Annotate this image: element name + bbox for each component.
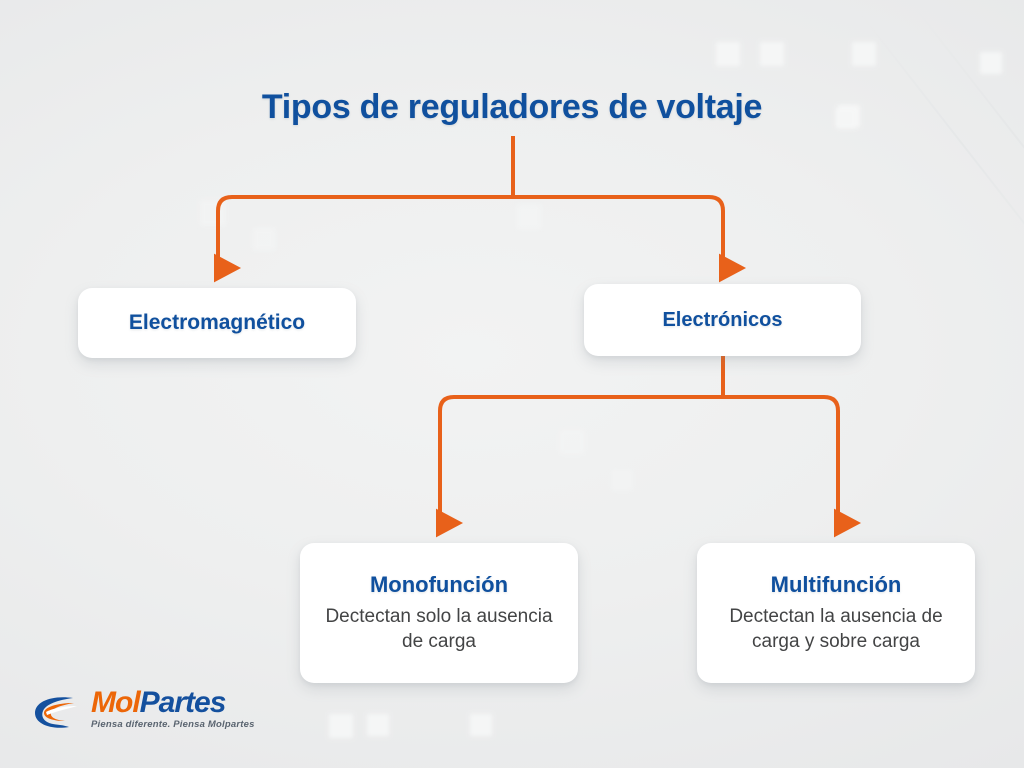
bg-decor-square	[760, 42, 784, 66]
bg-decor-square	[329, 714, 353, 738]
bg-decor-line	[913, 6, 1024, 291]
logo-text-block: MolPartes Piensa diferente. Piensa Molpa…	[91, 688, 255, 730]
connector-title-to-electronicos	[513, 197, 723, 268]
connector-electronicos-to-multifuncion	[723, 397, 838, 523]
logo-word-mol: Mol	[91, 686, 140, 719]
node-monofuncion-description: Dectectan solo la ausencia de carga	[322, 604, 556, 654]
node-monofuncion-title: Monofunción	[370, 572, 508, 597]
bg-decor-square	[517, 205, 541, 229]
molpartes-swoosh-icon	[33, 692, 89, 732]
bg-decor-square	[470, 714, 492, 736]
bg-decor-square	[367, 714, 389, 736]
slide-canvas: Tipos de reguladores de voltaje Electrom…	[0, 0, 1024, 768]
bg-decor-square	[980, 52, 1002, 74]
logo-tagline: Piensa diferente. Piensa Molpartes	[91, 720, 255, 730]
bg-decor-square	[716, 42, 740, 66]
node-multifuncion-description: Dectectan la ausencia de carga y sobre c…	[713, 604, 959, 654]
logo-wordmark: MolPartes	[91, 688, 255, 718]
node-electronicos-title: Electrónicos	[662, 309, 782, 332]
page-title: Tipos de reguladores de voltaje	[0, 88, 1024, 127]
bg-decor-square	[560, 430, 584, 454]
bg-decor-square	[253, 228, 275, 250]
bg-decor-square	[852, 42, 876, 66]
bg-decor-square	[200, 200, 226, 226]
node-multifuncion-title: Multifunción	[771, 572, 902, 597]
node-electromagnetico[interactable]: Electromagnético	[78, 288, 356, 358]
node-multifuncion[interactable]: Multifunción Dectectan la ausencia de ca…	[697, 543, 975, 683]
logo-word-partes: Partes	[140, 686, 226, 719]
node-electronicos[interactable]: Electrónicos	[584, 284, 861, 356]
bg-decor-line	[860, 14, 1024, 299]
bg-decor-square	[612, 470, 632, 490]
node-electromagnetico-title: Electromagnético	[129, 311, 305, 335]
connector-title-to-electromagnetico	[218, 197, 513, 268]
connector-electronicos-to-monofuncion	[440, 397, 723, 523]
brand-logo[interactable]: MolPartes Piensa diferente. Piensa Molpa…	[33, 688, 283, 740]
node-monofuncion[interactable]: Monofunción Dectectan solo la ausencia d…	[300, 543, 578, 683]
